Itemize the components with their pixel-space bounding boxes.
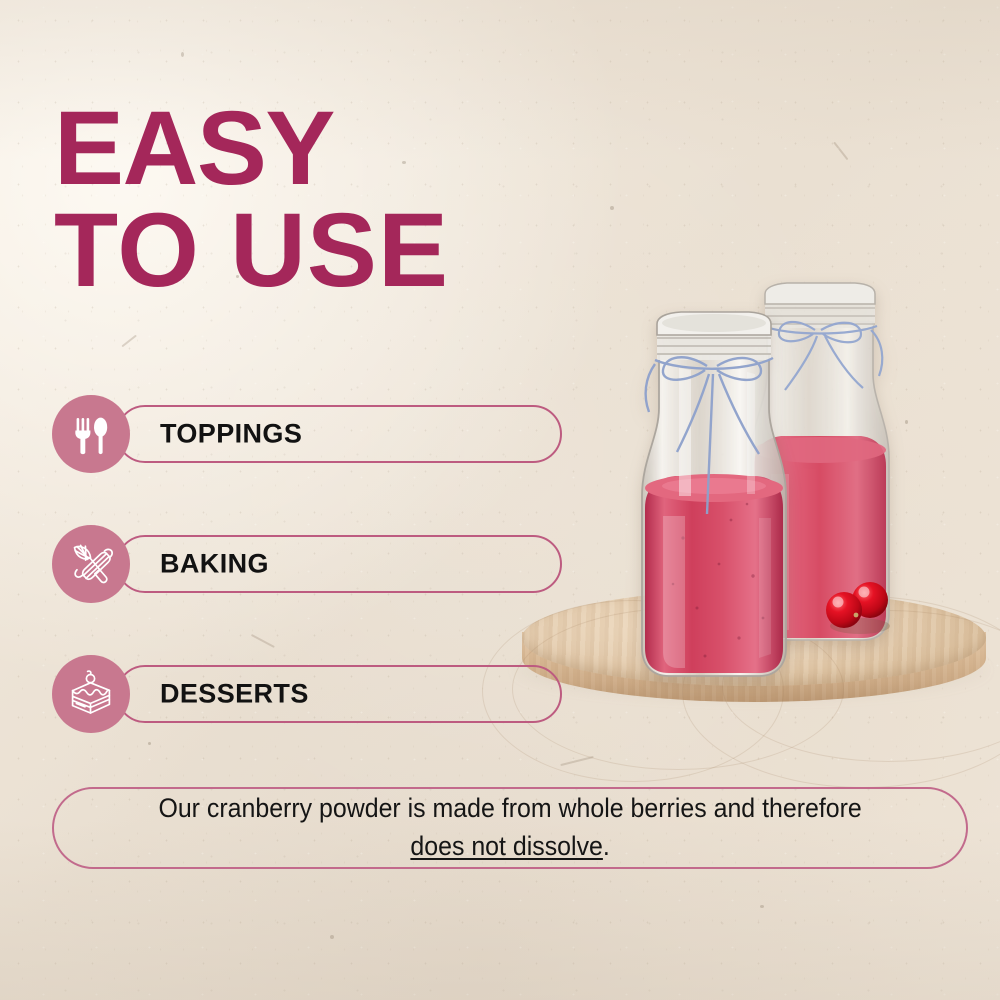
berry-highlight — [833, 597, 844, 608]
feature-badge-baking — [52, 525, 130, 603]
front-smoothie-highlight — [663, 516, 685, 668]
caption-box: Our cranberry powder is made from whole … — [52, 787, 968, 869]
poster-canvas: EASY TO USE TOPPINGS — [0, 0, 1000, 1000]
headline-line-2: TO USE — [54, 200, 554, 302]
front-bottle-mouth — [662, 314, 766, 332]
cake-slice-icon — [66, 669, 116, 719]
feature-item-baking[interactable]: BAKING — [52, 525, 522, 603]
feature-item-toppings[interactable]: TOPPINGS — [52, 395, 522, 473]
caption-period: . — [603, 831, 610, 861]
caption-emphasis: does not dissolve — [410, 831, 602, 861]
fork-and-spoon-icon — [67, 410, 115, 458]
caption-text: Our cranberry powder is made from whole … — [158, 790, 861, 865]
headline-line-1: EASY — [54, 98, 554, 200]
feature-label-desserts: DESSERTS — [160, 679, 309, 710]
cranberry-left — [826, 592, 862, 628]
berry-calyx — [854, 613, 859, 618]
product-photo — [500, 250, 1000, 770]
front-smoothie-highlight-right — [759, 518, 771, 658]
feature-badge-desserts — [52, 655, 130, 733]
front-glass-highlight — [679, 368, 691, 496]
berry-highlight — [859, 587, 870, 598]
feature-label-baking: BAKING — [160, 549, 269, 580]
whisk-and-rolling-pin-icon — [66, 539, 116, 589]
feature-label-toppings: TOPPINGS — [160, 419, 302, 450]
caption-line-1: Our cranberry powder is made from whole … — [158, 793, 861, 823]
front-glass-highlight-2 — [747, 372, 755, 494]
feature-badge-toppings — [52, 395, 130, 473]
feature-item-desserts[interactable]: DESSERTS — [52, 655, 522, 733]
glass-bottle-front — [635, 308, 793, 683]
feature-list: TOPPINGS — [52, 395, 522, 785]
back-bottle-rim — [765, 283, 875, 304]
page-title: EASY TO USE — [54, 98, 554, 302]
cranberries — [818, 580, 898, 636]
